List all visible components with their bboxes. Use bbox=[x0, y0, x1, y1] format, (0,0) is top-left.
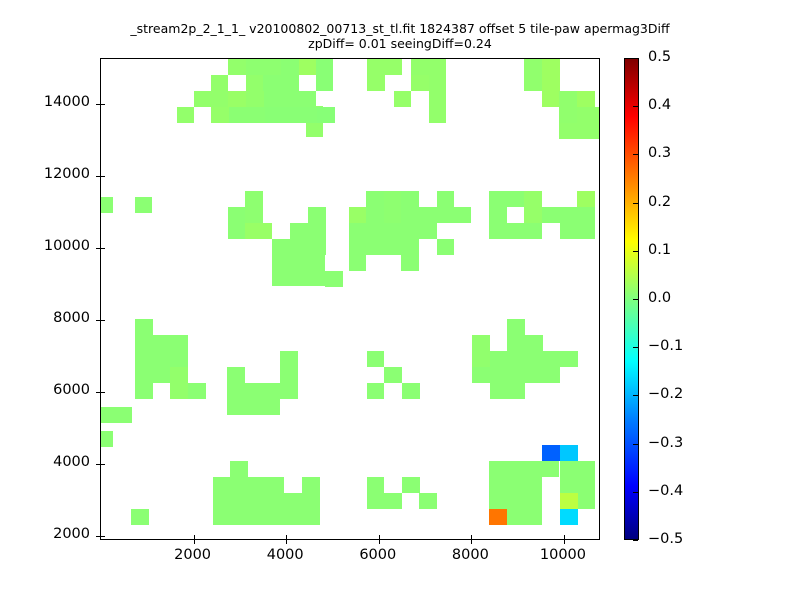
heatmap-cell bbox=[384, 493, 402, 509]
heatmap-cell bbox=[227, 367, 245, 399]
heatmap-cell bbox=[246, 75, 263, 91]
heatmap-cell bbox=[272, 239, 290, 255]
heatmap-cell bbox=[245, 383, 262, 415]
heatmap-cell bbox=[325, 271, 343, 287]
heatmap-cell bbox=[489, 191, 507, 223]
heatmap-cell bbox=[135, 197, 152, 213]
x-tick-inner bbox=[564, 535, 565, 539]
heatmap-cell bbox=[227, 399, 245, 415]
heatmap-cell bbox=[429, 107, 446, 123]
y-tick-label: 12000 bbox=[0, 166, 90, 182]
heatmap-cell bbox=[131, 509, 149, 525]
heatmap-cell bbox=[385, 59, 402, 75]
x-tick-inner bbox=[379, 535, 380, 539]
heatmap-cell bbox=[229, 107, 265, 123]
heatmap-cell bbox=[542, 351, 560, 383]
x-tick-inner bbox=[194, 535, 195, 539]
heatmap-cell bbox=[290, 223, 308, 255]
heatmap-cell bbox=[262, 383, 280, 399]
x-tick-label: 6000 bbox=[328, 547, 428, 563]
heatmap-cell bbox=[472, 335, 490, 367]
x-tick-inner bbox=[286, 535, 287, 539]
colorbar: −0.5−0.4−0.3−0.2−0.10.00.10.20.30.40.5 bbox=[624, 58, 639, 540]
x-tick-label: 4000 bbox=[235, 547, 335, 563]
y-tick-inner bbox=[101, 176, 105, 177]
y-tick-inner bbox=[101, 536, 105, 537]
heatmap-cell bbox=[299, 91, 316, 107]
heatmap-cell bbox=[366, 191, 384, 223]
heatmap-cell bbox=[246, 91, 264, 107]
colorbar-tick bbox=[633, 299, 638, 300]
matplotlib-figure: _stream2p_2_1_1_ v20100802_00713_st_tl.f… bbox=[0, 0, 800, 600]
title-line-1: _stream2p_2_1_1_ v20100802_00713_st_tl.f… bbox=[0, 22, 800, 37]
heatmap-cell bbox=[411, 59, 429, 75]
colorbar-tick-label: −0.5 bbox=[648, 531, 683, 547]
heatmap-cell bbox=[489, 509, 507, 525]
heatmap-cell bbox=[248, 477, 266, 493]
heatmap-cell bbox=[101, 431, 113, 447]
heatmap-cell bbox=[525, 335, 543, 383]
figure-title: _stream2p_2_1_1_ v20100802_00713_st_tl.f… bbox=[0, 22, 800, 52]
x-tick-label: 10000 bbox=[513, 547, 613, 563]
heatmap-cell bbox=[272, 255, 325, 286]
heatmap-cell bbox=[559, 123, 577, 139]
heatmap-cell bbox=[265, 107, 317, 123]
heatmap-cell bbox=[153, 335, 170, 383]
colorbar-tick bbox=[633, 154, 638, 155]
plot-axes bbox=[100, 58, 600, 540]
colorbar-tick-label: −0.3 bbox=[648, 435, 683, 451]
heatmap-cell bbox=[367, 59, 385, 91]
heatmap-cell bbox=[367, 351, 384, 367]
colorbar-tick-label: 0.4 bbox=[648, 97, 671, 113]
y-tick-label: 6000 bbox=[0, 382, 90, 398]
colorbar-tick-label: −0.4 bbox=[648, 483, 683, 499]
heatmap-cell bbox=[437, 191, 454, 223]
heatmap-cell bbox=[211, 75, 228, 107]
colorbar-tick-label: 0.2 bbox=[648, 194, 671, 210]
heatmap-cell bbox=[437, 239, 454, 255]
heatmap-cell bbox=[507, 477, 542, 509]
heatmap-cell bbox=[263, 75, 281, 91]
y-tick-label: 14000 bbox=[0, 94, 90, 110]
y-tick-label: 4000 bbox=[0, 454, 90, 470]
heatmap-cell bbox=[542, 207, 560, 223]
heatmap-cell bbox=[248, 493, 266, 525]
y-tick-label: 2000 bbox=[0, 526, 90, 542]
heatmap-cell bbox=[302, 477, 320, 525]
colorbar-tick bbox=[633, 492, 638, 493]
heatmap-cell bbox=[281, 59, 299, 91]
heatmap-cell bbox=[402, 383, 420, 399]
heatmap-cell bbox=[419, 207, 437, 223]
heatmap-cell bbox=[245, 191, 263, 223]
heatmap-cell bbox=[367, 477, 384, 509]
y-tick-inner bbox=[101, 104, 105, 105]
heatmap-cell bbox=[559, 91, 577, 123]
heatmap-cell bbox=[577, 91, 595, 107]
heatmap-cell bbox=[266, 477, 284, 525]
x-tick-label: 8000 bbox=[420, 547, 520, 563]
heatmap-cell bbox=[560, 509, 578, 525]
heatmap-cell bbox=[489, 223, 542, 239]
heatmap-cell bbox=[411, 75, 429, 91]
heatmap-cell bbox=[280, 351, 298, 367]
heatmap-cell bbox=[384, 367, 402, 383]
heatmap-cell bbox=[560, 351, 578, 367]
heatmap-cell bbox=[542, 59, 560, 107]
heatmap-cell bbox=[194, 91, 211, 107]
colorbar-tick-label: 0.3 bbox=[648, 145, 671, 161]
colorbar-tick-label: −0.1 bbox=[648, 338, 683, 354]
heatmap-cell bbox=[213, 477, 248, 525]
colorbar-tick bbox=[633, 395, 638, 396]
colorbar-tick-label: 0.5 bbox=[648, 49, 671, 65]
heatmap-cell bbox=[316, 59, 333, 91]
heatmap-cell bbox=[211, 107, 229, 123]
heatmap-cell bbox=[401, 255, 419, 271]
colorbar-tick bbox=[633, 203, 638, 204]
heatmap-cell bbox=[507, 191, 524, 207]
heatmap-cell bbox=[366, 223, 419, 255]
colorbar-tick-label: 0.1 bbox=[648, 242, 671, 258]
x-tick bbox=[379, 539, 380, 544]
y-tick-label: 10000 bbox=[0, 238, 90, 254]
heatmap-cell bbox=[170, 335, 188, 367]
colorbar-tick bbox=[633, 251, 638, 252]
heatmap-cell bbox=[507, 319, 525, 367]
heatmap-cell bbox=[101, 407, 132, 423]
x-tick-inner bbox=[471, 535, 472, 539]
y-tick-inner bbox=[101, 392, 105, 393]
colorbar-tick bbox=[633, 58, 638, 59]
heatmap-cell bbox=[490, 383, 525, 399]
heatmap-cell bbox=[245, 223, 272, 239]
heatmap-cell bbox=[308, 207, 326, 255]
heatmap-cell bbox=[262, 399, 280, 415]
heatmap-cell bbox=[177, 107, 194, 123]
heatmap-cell bbox=[560, 445, 578, 461]
heatmap-cell bbox=[228, 59, 246, 75]
heatmap-cell bbox=[349, 255, 366, 271]
heatmap-cell bbox=[560, 493, 578, 509]
heatmap-cell bbox=[402, 477, 420, 493]
heatmap-cell bbox=[524, 191, 542, 223]
x-tick bbox=[471, 539, 472, 544]
heatmap-cell bbox=[349, 223, 366, 255]
x-tick bbox=[194, 539, 195, 544]
heatmap-cell bbox=[228, 207, 245, 239]
y-tick-inner bbox=[101, 248, 105, 249]
heatmap-cell bbox=[507, 509, 542, 525]
colorbar-tick bbox=[633, 540, 638, 541]
heatmap-cell bbox=[135, 351, 153, 399]
heatmap-cell bbox=[577, 107, 599, 139]
heatmap-cell bbox=[135, 319, 153, 351]
x-tick-label: 2000 bbox=[143, 547, 243, 563]
x-tick bbox=[286, 539, 287, 544]
heatmap-cell bbox=[394, 91, 411, 107]
heatmap-cell bbox=[489, 461, 559, 477]
heatmap-cell bbox=[367, 383, 384, 399]
heatmap-cell bbox=[170, 367, 188, 399]
heatmap-cells bbox=[101, 59, 599, 539]
y-tick-inner bbox=[101, 320, 105, 321]
heatmap-cell bbox=[577, 191, 595, 207]
x-tick bbox=[564, 539, 565, 544]
heatmap-cell bbox=[472, 367, 525, 383]
heatmap-cell bbox=[419, 223, 437, 239]
heatmap-cell bbox=[542, 445, 560, 461]
y-tick-inner bbox=[101, 464, 105, 465]
heatmap-cell bbox=[317, 107, 335, 123]
heatmap-cell bbox=[577, 207, 595, 223]
colorbar-tick bbox=[633, 444, 638, 445]
colorbar-tick bbox=[633, 106, 638, 107]
heatmap-cell bbox=[454, 207, 471, 223]
heatmap-cell bbox=[524, 59, 542, 91]
title-line-2: zpDiff= 0.01 seeingDiff=0.24 bbox=[0, 37, 800, 52]
heatmap-cell bbox=[419, 493, 437, 509]
heatmap-cell bbox=[490, 351, 508, 367]
heatmap-cell bbox=[101, 197, 113, 213]
heatmap-cell bbox=[246, 59, 281, 75]
y-tick-label: 8000 bbox=[0, 310, 90, 326]
heatmap-cell bbox=[429, 59, 446, 107]
heatmap-cell bbox=[299, 59, 316, 75]
heatmap-cell bbox=[188, 383, 206, 399]
heatmap-cell bbox=[284, 493, 302, 525]
heatmap-cell bbox=[280, 367, 298, 399]
colorbar-tick-label: 0.0 bbox=[648, 290, 671, 306]
colorbar-tick-label: −0.2 bbox=[648, 386, 683, 402]
colorbar-tick bbox=[633, 347, 638, 348]
heatmap-cell bbox=[265, 91, 299, 107]
